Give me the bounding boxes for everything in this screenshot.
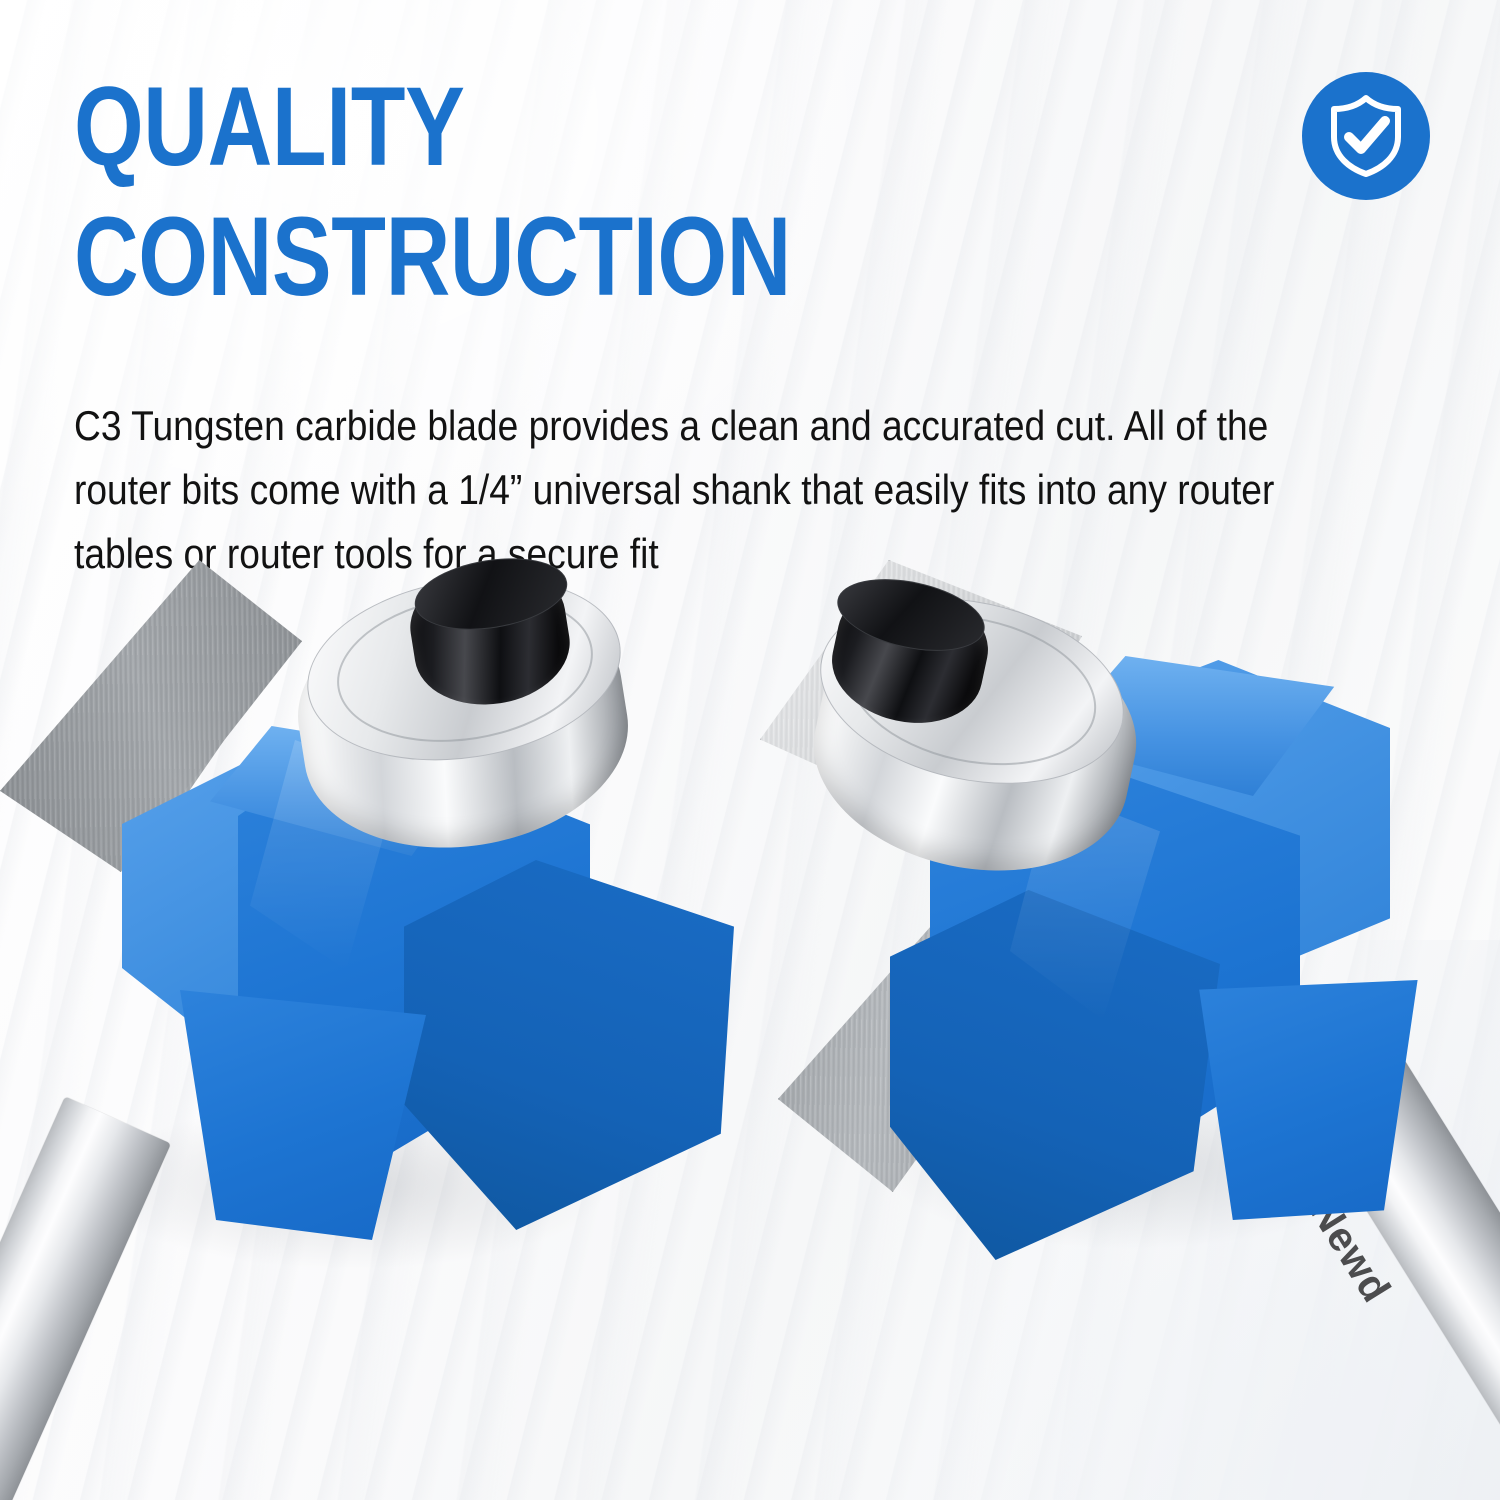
cutter-body-right-facet-c <box>890 890 1220 1260</box>
quality-badge <box>1302 72 1430 200</box>
cutter-body-left-facet-c <box>404 860 734 1230</box>
router-bit-left: Newde <box>0 560 760 1500</box>
product-stage: Newde Newd <box>0 560 1500 1500</box>
marketing-banner: QUALITY CONSTRUCTION C3 Tungsten carbide… <box>0 0 1500 1500</box>
shank-left <box>0 1096 171 1500</box>
description-paragraph: C3 Tungsten carbide blade provides a cle… <box>74 394 1331 585</box>
page-title: QUALITY CONSTRUCTION <box>74 62 906 322</box>
shield-check-icon <box>1325 93 1407 179</box>
router-bit-right: Newd <box>760 560 1500 1500</box>
